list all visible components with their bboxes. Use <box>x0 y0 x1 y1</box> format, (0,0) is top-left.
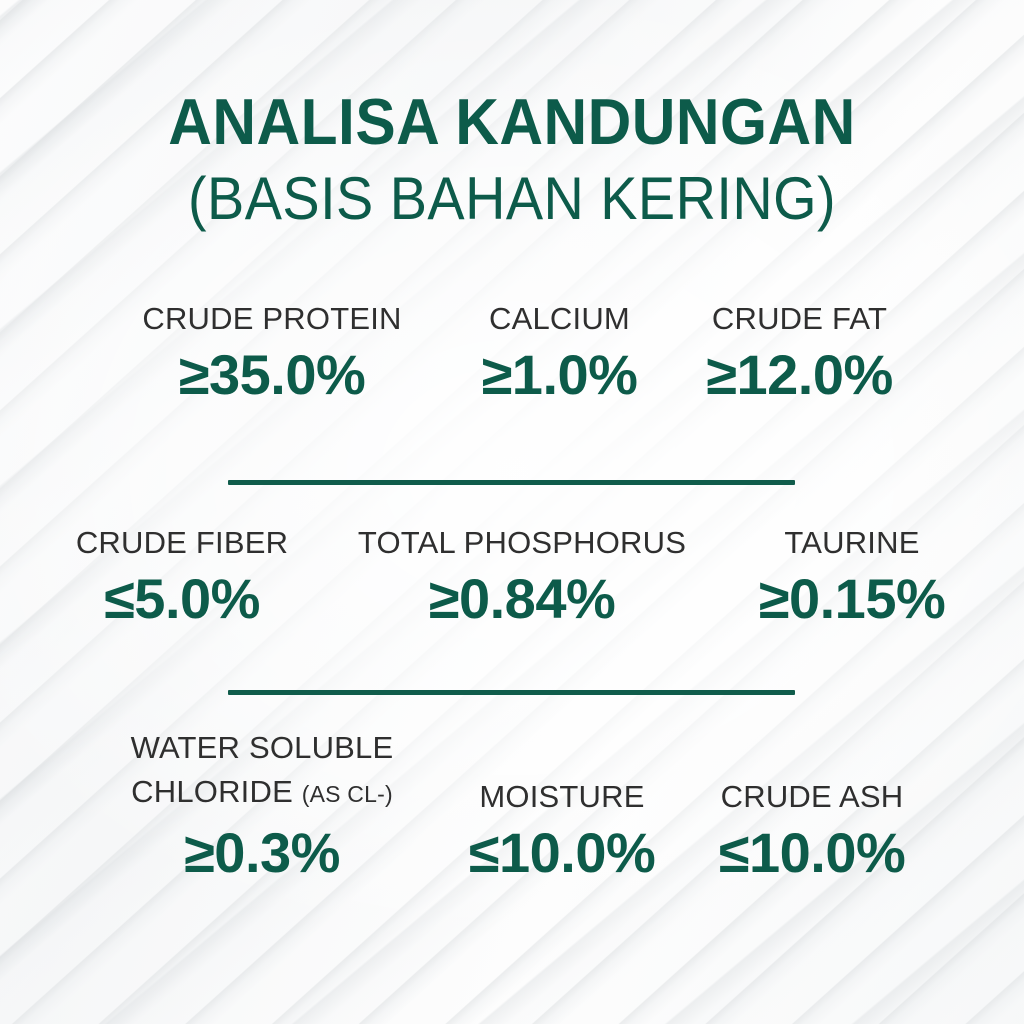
nutrient-value: ≥12.0% <box>706 344 893 406</box>
title-line-secondary: (BASIS BAHAN KERING) <box>36 164 988 234</box>
nutrient-cell-calcium: CALCIUM ≥1.0% <box>445 300 675 406</box>
nutrient-row-3: WATER SOLUBLE CHLORIDE (AS CL-) ≥0.3% MO… <box>0 726 1024 884</box>
title-line-primary: ANALISA KANDUNGAN <box>36 86 988 158</box>
nutrient-cell-crude-protein: CRUDE PROTEIN ≥35.0% <box>100 300 445 406</box>
nutrient-cell-crude-fat: CRUDE FAT ≥12.0% <box>675 300 925 406</box>
nutrient-value: ≤10.0% <box>469 822 656 884</box>
nutrient-row-2: CRUDE FIBER ≤5.0% TOTAL PHOSPHORUS ≥0.84… <box>0 524 1024 630</box>
nutrient-label: CRUDE PROTEIN <box>142 300 401 338</box>
nutrient-value: ≥1.0% <box>482 344 638 406</box>
nutrient-label-qualifier: (AS CL-) <box>302 781 393 807</box>
nutrient-cell-moisture: MOISTURE ≤10.0% <box>437 778 687 884</box>
nutrient-value: ≥0.3% <box>184 822 340 884</box>
nutrient-value: ≥35.0% <box>179 344 366 406</box>
nutrient-label: CRUDE FIBER <box>76 524 288 562</box>
nutrient-cell-total-phosphorus: TOTAL PHOSPHORUS ≥0.84% <box>322 524 722 630</box>
nutrient-label-line-1: WATER SOLUBLE <box>131 730 394 765</box>
nutrient-label: CRUDE FAT <box>712 300 887 338</box>
nutrient-label: TOTAL PHOSPHORUS <box>358 524 686 562</box>
nutrient-cell-crude-fiber: CRUDE FIBER ≤5.0% <box>42 524 322 630</box>
nutrient-cell-taurine: TAURINE ≥0.15% <box>722 524 982 630</box>
divider-after-row-1 <box>228 480 795 485</box>
nutrition-analysis-poster: ANALISA KANDUNGAN (BASIS BAHAN KERING) C… <box>0 0 1024 1024</box>
divider-after-row-2 <box>228 690 795 695</box>
nutrient-value: ≥0.15% <box>759 568 946 630</box>
nutrient-cell-crude-ash: CRUDE ASH ≤10.0% <box>687 778 937 884</box>
nutrient-label: CALCIUM <box>489 300 630 338</box>
nutrient-cell-water-soluble-chloride: WATER SOLUBLE CHLORIDE (AS CL-) ≥0.3% <box>87 726 437 884</box>
nutrient-label: MOISTURE <box>479 778 644 816</box>
nutrient-label: WATER SOLUBLE CHLORIDE (AS CL-) <box>131 726 394 816</box>
page-title: ANALISA KANDUNGAN (BASIS BAHAN KERING) <box>0 86 1024 234</box>
nutrient-value: ≤5.0% <box>104 568 260 630</box>
nutrient-label: TAURINE <box>784 524 919 562</box>
nutrient-value: ≥0.84% <box>429 568 616 630</box>
nutrient-label-line-2: CHLORIDE <box>131 774 293 809</box>
nutrient-row-1: CRUDE PROTEIN ≥35.0% CALCIUM ≥1.0% CRUDE… <box>0 300 1024 406</box>
poster-content: ANALISA KANDUNGAN (BASIS BAHAN KERING) C… <box>0 0 1024 1024</box>
nutrient-label: CRUDE ASH <box>721 778 904 816</box>
nutrient-value: ≤10.0% <box>719 822 906 884</box>
